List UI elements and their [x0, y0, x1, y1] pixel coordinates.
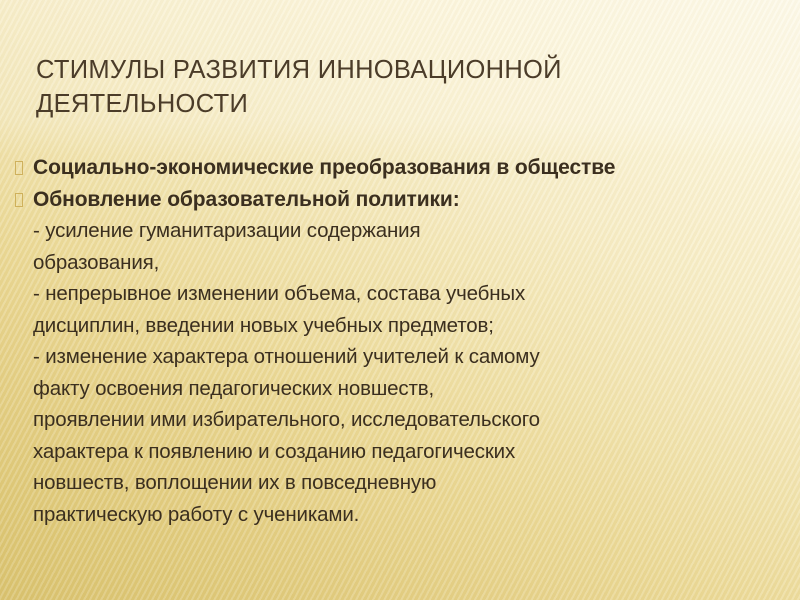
bullet-item-label: Социально-экономические преобразования в… — [33, 152, 615, 184]
body-line: новшеств, воплощении их в повседневную — [14, 467, 786, 499]
body-line: образования, — [14, 247, 786, 279]
body-line: дисциплин, введении новых учебных предме… — [14, 310, 786, 342]
body-line: практическую работу с учениками. — [14, 499, 786, 531]
body-line: характера к появлению и созданию педагог… — [14, 436, 786, 468]
list-item: Обновление образовательной политики: — [14, 184, 786, 216]
bullet-item-label: Обновление образовательной политики: — [33, 184, 460, 216]
body-line: - усиление гуманитаризации содержания — [14, 215, 786, 247]
slide-title: СТИМУЛЫ РАЗВИТИЯ ИННОВАЦИОННОЙ ДЕЯТЕЛЬНО… — [36, 53, 736, 121]
bullet-box-icon — [15, 193, 23, 207]
body-line: - изменение характера отношений учителей… — [14, 341, 786, 373]
slide-body: Социально-экономические преобразования в… — [14, 152, 786, 530]
bullet-box-icon — [15, 161, 23, 175]
body-line: проявлении ими избирательного, исследова… — [14, 404, 786, 436]
body-line: факту освоения педагогических новшеств, — [14, 373, 786, 405]
body-line: - непрерывное изменении объема, состава … — [14, 278, 786, 310]
presentation-slide: СТИМУЛЫ РАЗВИТИЯ ИННОВАЦИОННОЙ ДЕЯТЕЛЬНО… — [0, 0, 800, 600]
list-item: Социально-экономические преобразования в… — [14, 152, 786, 184]
slide-content: СТИМУЛЫ РАЗВИТИЯ ИННОВАЦИОННОЙ ДЕЯТЕЛЬНО… — [0, 0, 800, 600]
